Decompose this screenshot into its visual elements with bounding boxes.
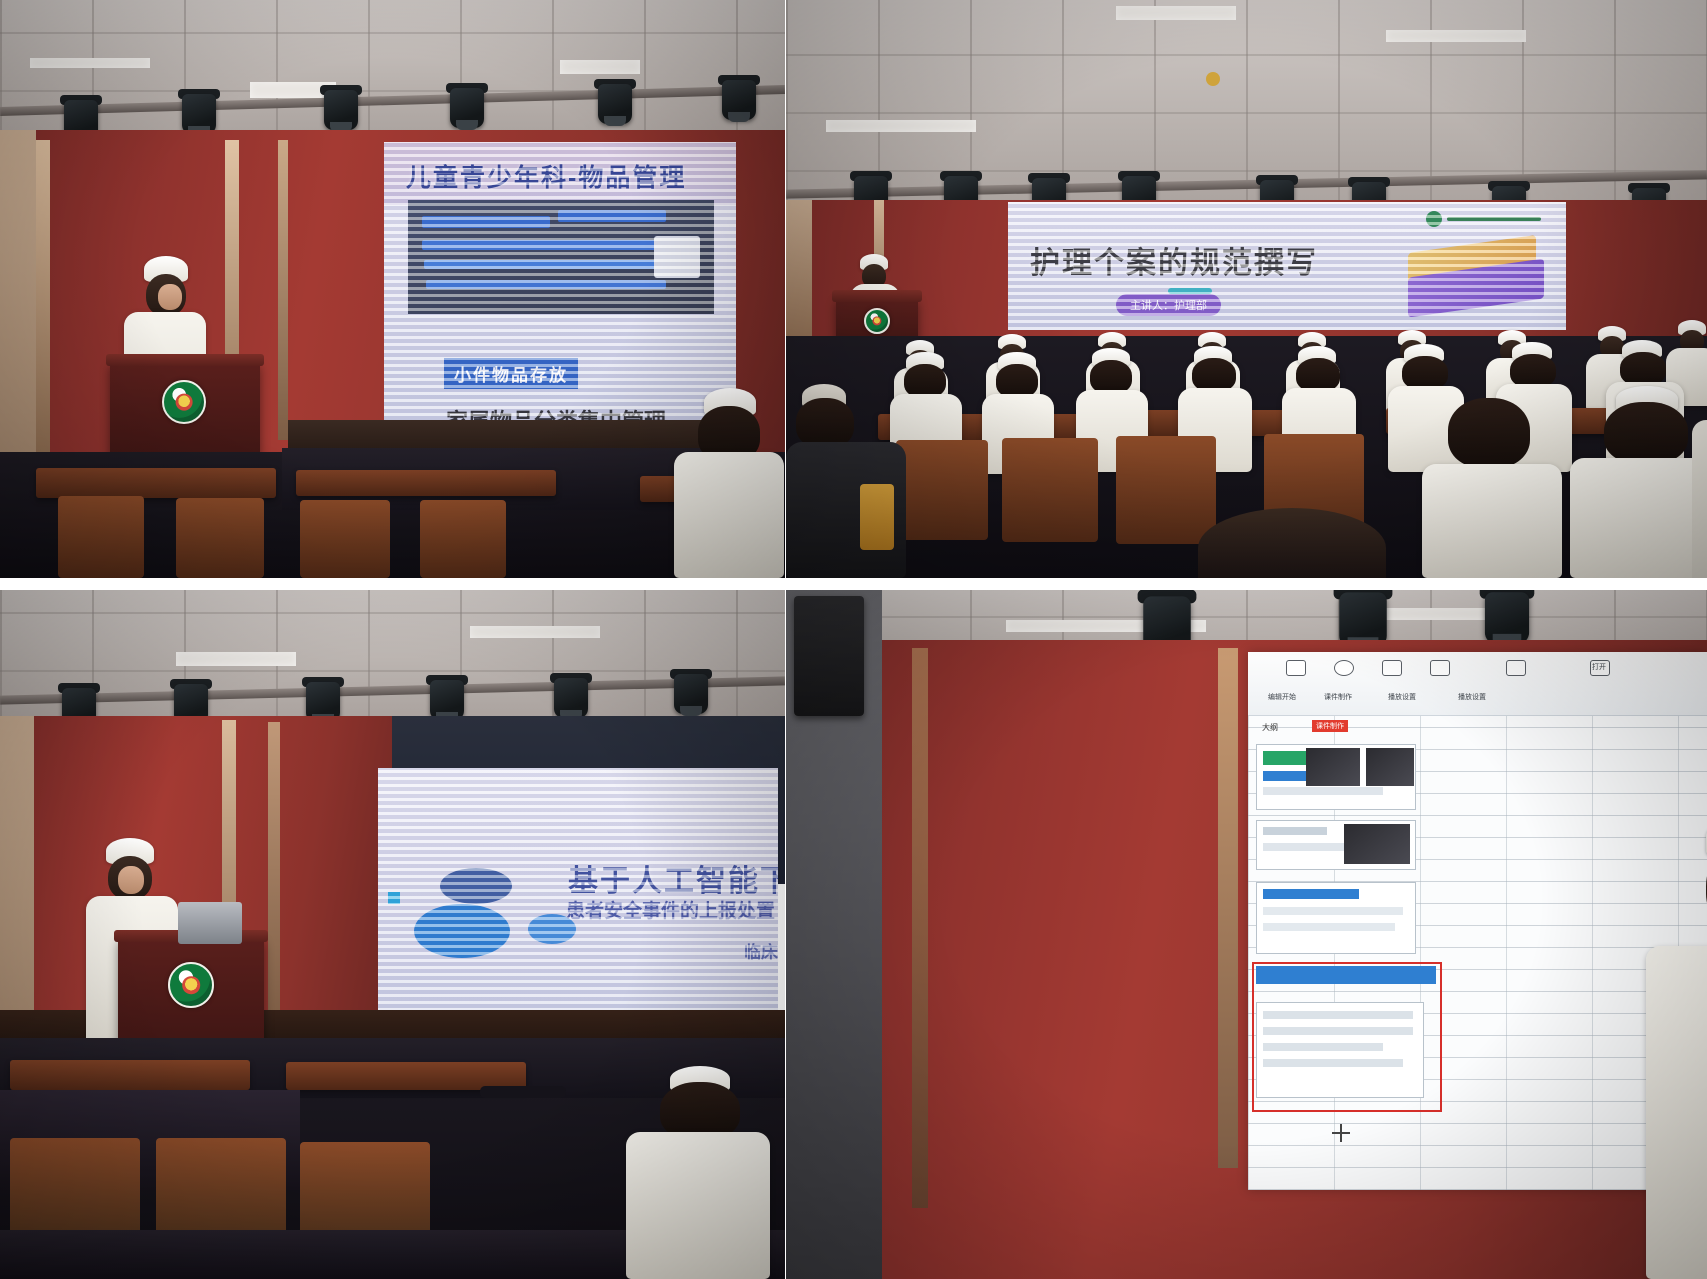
white-coat bbox=[1422, 464, 1562, 578]
photo-collage: 儿童青少年科-物品管理 小件物品存放 家属物品分类集中管理 bbox=[0, 0, 1707, 1279]
collage-horizontal-gutter bbox=[0, 578, 1707, 590]
hair bbox=[1604, 402, 1688, 464]
slide-ellipse-blue bbox=[414, 904, 510, 958]
audience-chair bbox=[176, 498, 264, 578]
badge-label: 课件制作 bbox=[1312, 720, 1348, 732]
hospital-emblem-icon bbox=[162, 380, 206, 424]
audience-chair bbox=[300, 500, 390, 578]
ceiling-grid bbox=[0, 0, 785, 150]
slide-footnote-text: 临床 bbox=[744, 938, 778, 963]
cursor-marker bbox=[1332, 1132, 1350, 1134]
wall-trim bbox=[278, 140, 288, 440]
slide-ellipse-dark bbox=[440, 868, 512, 904]
hospital-emblem-icon bbox=[168, 962, 214, 1008]
ribbon-icon bbox=[1286, 660, 1306, 676]
wall-trim bbox=[1218, 648, 1238, 1168]
audience-person-dark-coat bbox=[786, 384, 912, 578]
slide-photo bbox=[408, 200, 714, 314]
slide-title-text: 儿童青少年科-物品管理 bbox=[406, 158, 686, 194]
ribbon-label[interactable]: 播放设置 bbox=[1458, 692, 1486, 702]
ceiling-light-panel bbox=[1386, 30, 1526, 42]
hair bbox=[996, 364, 1038, 398]
stage-spotlight-icon bbox=[318, 82, 364, 136]
content-cell[interactable] bbox=[1256, 882, 1416, 954]
slide-title-text: 护理个案的规范撰写 bbox=[1030, 238, 1318, 282]
logo-mark-icon bbox=[1426, 211, 1442, 227]
panel-bottom-left: 基于人工智能下 患者安全事件的上报处置 临床 bbox=[0, 590, 785, 1279]
audience-person bbox=[1692, 420, 1707, 578]
audience-desk bbox=[296, 470, 556, 496]
audience-chair bbox=[300, 1142, 430, 1238]
slide-subtitle-text: 患者安全事件的上报处置 bbox=[566, 896, 775, 923]
ribbon-icon bbox=[1506, 660, 1526, 676]
ceiling-light-panel bbox=[470, 626, 600, 638]
audience-person bbox=[1570, 386, 1707, 578]
app-ribbon: 编辑开始 课件制作 播放设置 播放设置 打开 bbox=[1248, 652, 1707, 716]
hospital-emblem-icon bbox=[864, 308, 890, 334]
panel-bottom-right: 编辑开始 课件制作 播放设置 播放设置 打开 大纲 课件制作 bbox=[786, 590, 1707, 1279]
loudspeaker bbox=[794, 596, 864, 716]
face bbox=[158, 284, 182, 310]
thumbnail-image[interactable] bbox=[1306, 748, 1360, 786]
audience-person bbox=[1422, 398, 1562, 578]
stage-spotlight-icon bbox=[668, 666, 714, 720]
audience-person bbox=[672, 388, 784, 578]
smoke-detector-icon bbox=[1206, 72, 1220, 86]
thumbnail-image[interactable] bbox=[1366, 748, 1414, 786]
ceiling-light-panel bbox=[560, 60, 640, 74]
presenter-person bbox=[1594, 816, 1707, 1279]
ceiling-light-panel bbox=[30, 58, 150, 68]
white-coat bbox=[1570, 458, 1707, 578]
audience-chair bbox=[156, 1138, 286, 1234]
audience-person bbox=[626, 1066, 770, 1279]
audience-desk bbox=[10, 1060, 250, 1090]
content-bar bbox=[1263, 889, 1359, 899]
audience-chair bbox=[1116, 436, 1216, 544]
screen-logo bbox=[1426, 210, 1550, 228]
wall-trim bbox=[268, 722, 280, 1018]
slide-tag-label: 小件物品存放 bbox=[444, 358, 578, 389]
wall-trim bbox=[36, 140, 50, 460]
led-presentation-screen: 护理个案的规范撰写 主讲人：护理部 bbox=[1008, 202, 1566, 330]
foreground-head bbox=[1198, 508, 1386, 578]
hair bbox=[1296, 358, 1340, 392]
laptop bbox=[178, 902, 242, 944]
wall-trim bbox=[912, 648, 928, 1208]
slide-accent-bar bbox=[1168, 288, 1212, 294]
ceiling-light-panel bbox=[826, 120, 976, 132]
side-wall-panel bbox=[0, 716, 34, 1022]
panel-top-right: 护理个案的规范撰写 主讲人：护理部 bbox=[786, 0, 1707, 578]
ribbon-label[interactable]: 课件制作 bbox=[1324, 692, 1352, 702]
led-presentation-screen: 儿童青少年科-物品管理 小件物品存放 家属物品分类集中管理 bbox=[384, 142, 736, 430]
ribbon-icon bbox=[1382, 660, 1402, 676]
panel-top-left: 儿童青少年科-物品管理 小件物品存放 家属物品分类集中管理 bbox=[0, 0, 785, 578]
slide-title-text: 基于人工智能下 bbox=[568, 856, 778, 900]
stage-spotlight-icon bbox=[592, 76, 638, 130]
slide-tag-label: 主讲人：护理部 bbox=[1116, 294, 1221, 316]
ceiling bbox=[0, 0, 785, 150]
ceiling-light-panel bbox=[176, 652, 296, 666]
highlight-frame bbox=[1252, 962, 1442, 1112]
ribbon-icon bbox=[1334, 660, 1354, 676]
audience-chair bbox=[10, 1138, 140, 1234]
hair bbox=[1402, 356, 1448, 390]
audience-chair bbox=[1002, 438, 1098, 542]
ceiling-light-panel bbox=[1116, 6, 1236, 20]
podium-top bbox=[832, 290, 922, 302]
podium-top bbox=[106, 354, 264, 366]
hair bbox=[1090, 360, 1132, 394]
audience-desk bbox=[36, 468, 276, 498]
hair bbox=[1620, 352, 1666, 386]
hair bbox=[796, 398, 854, 448]
ribbon-label[interactable]: 播放设置 bbox=[1388, 692, 1416, 702]
white-coat bbox=[1646, 946, 1707, 1279]
side-wall-panel bbox=[0, 130, 36, 460]
status-chip bbox=[1263, 751, 1307, 765]
thumbnail-image[interactable] bbox=[1344, 824, 1410, 864]
stage-spotlight-icon bbox=[444, 80, 490, 134]
microphone bbox=[480, 1086, 566, 1098]
shoulder-bag bbox=[860, 484, 894, 550]
face bbox=[118, 866, 144, 894]
ribbon-icon bbox=[1430, 660, 1450, 676]
audience-chair bbox=[420, 500, 506, 578]
ribbon-label[interactable]: 打开 bbox=[1592, 662, 1606, 672]
hair bbox=[1510, 354, 1556, 388]
slide-square-accent bbox=[388, 892, 400, 904]
hair bbox=[1448, 398, 1530, 468]
white-coat bbox=[626, 1132, 770, 1279]
hair bbox=[1192, 358, 1236, 392]
stage-spotlight-icon bbox=[716, 72, 762, 126]
side-wall-panel bbox=[786, 200, 812, 350]
audience-chair bbox=[58, 496, 144, 578]
outline-label: 大纲 bbox=[1262, 722, 1278, 733]
ribbon-label[interactable]: 编辑开始 bbox=[1268, 692, 1296, 702]
led-presentation-screen: 基于人工智能下 患者安全事件的上报处置 临床 bbox=[378, 768, 778, 1032]
white-coat bbox=[674, 452, 784, 578]
